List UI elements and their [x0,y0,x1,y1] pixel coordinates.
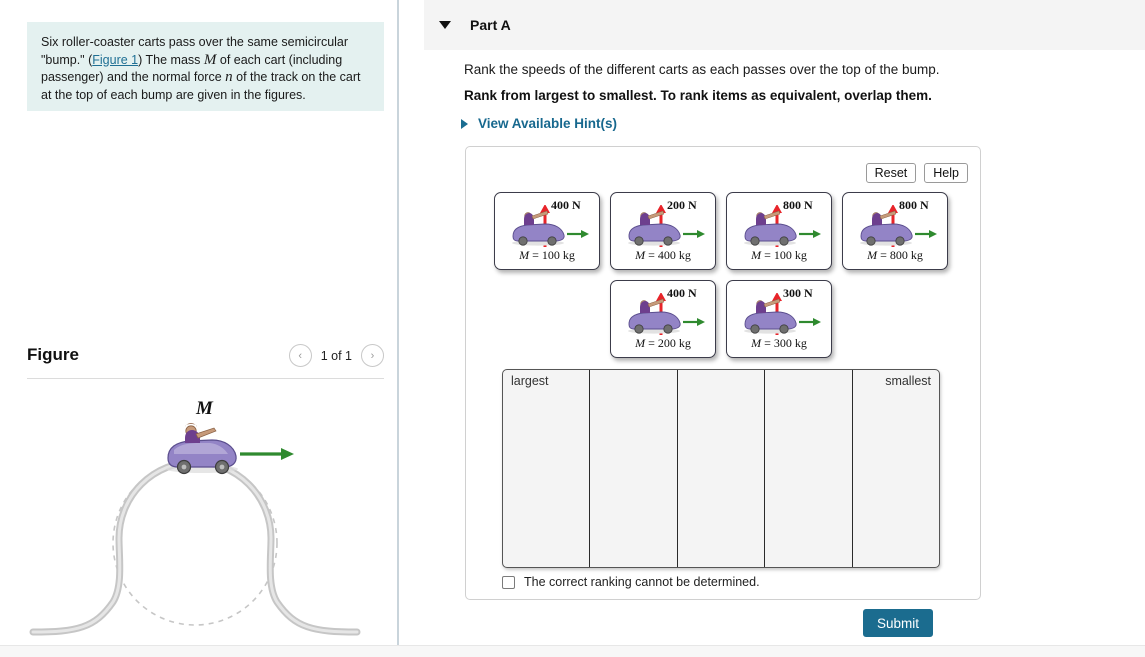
figure-title: Figure [27,345,79,365]
undetermined-checkbox[interactable] [502,576,515,589]
normal-force-symbol: n [225,69,233,85]
cart-item-3[interactable]: 800 N [726,192,832,270]
view-hints-label: View Available Hint(s) [478,116,617,131]
ranking-bin-cell-1[interactable]: largest [503,370,590,567]
part-a-header[interactable]: Part A [424,0,1145,50]
widget-toolbar: Reset Help [866,163,968,183]
cart-item-4-art [853,205,939,254]
ranking-widget-panel: Reset Help 400 N [465,146,981,600]
right-column: Part A Rank the speeds of the different … [399,0,1145,645]
ranking-bin-cell-4[interactable] [765,370,852,567]
undetermined-checkbox-label: The correct ranking cannot be determined… [524,575,760,589]
ranking-bin-largest-label: largest [509,374,551,388]
chevron-down-icon[interactable] [439,21,451,29]
page-root: Six roller-coaster carts pass over the s… [0,0,1145,657]
cart-items-row-2: 400 N [610,280,832,358]
ranking-bin-smallest-label: smallest [883,374,933,388]
cart-item-2-art [621,205,707,254]
cart-item-3-mass: M = 100 kg [727,248,831,263]
ranking-bin-cell-5[interactable]: smallest [853,370,939,567]
submit-button[interactable]: Submit [863,609,933,637]
track-path [33,462,357,632]
cart-item-5-art [621,293,707,342]
chevron-right-icon [461,119,468,129]
cart-item-1-mass: M = 100 kg [495,248,599,263]
bump-diagram-svg: M [27,388,384,643]
figure-1-link[interactable]: Figure 1 [92,53,138,67]
part-a-instruction: Rank from largest to smallest. To rank i… [464,86,1124,105]
view-hints-toggle[interactable]: View Available Hint(s) [461,116,617,131]
left-column: Six roller-coaster carts pass over the s… [0,0,397,657]
figure-page-label: 1 of 1 [321,349,352,363]
figure-mass-label: M [195,398,214,419]
mass-symbol: M [204,52,217,68]
track-highlight [33,462,357,632]
cart-figure: M [166,398,294,474]
cart-item-6-art [737,293,823,342]
help-button[interactable]: Help [924,163,968,183]
question-part-2: ) The mass [138,53,204,67]
figure-prev-button[interactable]: ‹ [289,344,312,367]
ranking-bin-cell-3[interactable] [678,370,765,567]
figure-pager: ‹ 1 of 1 › [289,344,384,367]
question-statement-box: Six roller-coaster carts pass over the s… [27,22,384,111]
cart-item-5[interactable]: 400 N [610,280,716,358]
part-a-title: Part A [470,17,511,33]
cart-item-6[interactable]: 300 N [726,280,832,358]
cart-item-4[interactable]: 800 N [842,192,948,270]
cart-item-4-mass: M = 800 kg [843,248,947,263]
cart-item-5-mass: M = 200 kg [611,336,715,351]
cart-item-1-art [505,205,591,254]
part-a-prompt: Rank the speeds of the different carts a… [464,60,1124,79]
figure-divider [27,378,384,379]
cart-items-row-1: 400 N [494,192,948,270]
cart-item-1[interactable]: 400 N [494,192,600,270]
cart-item-2[interactable]: 200 N [610,192,716,270]
ranking-bin[interactable]: largest smallest [502,369,940,568]
figure-next-button[interactable]: › [361,344,384,367]
reset-button[interactable]: Reset [866,163,917,183]
figure-illustration: M [27,388,384,643]
question-text: Six roller-coaster carts pass over the s… [41,34,370,104]
page-bottom-strip [0,645,1145,657]
cart-item-3-art [737,205,823,254]
cart-item-6-mass: M = 300 kg [727,336,831,351]
cart-item-2-mass: M = 400 kg [611,248,715,263]
ranking-bin-cell-2[interactable] [590,370,677,567]
figure-header: Figure ‹ 1 of 1 › [27,340,384,380]
undetermined-checkbox-row[interactable]: The correct ranking cannot be determined… [502,575,760,589]
